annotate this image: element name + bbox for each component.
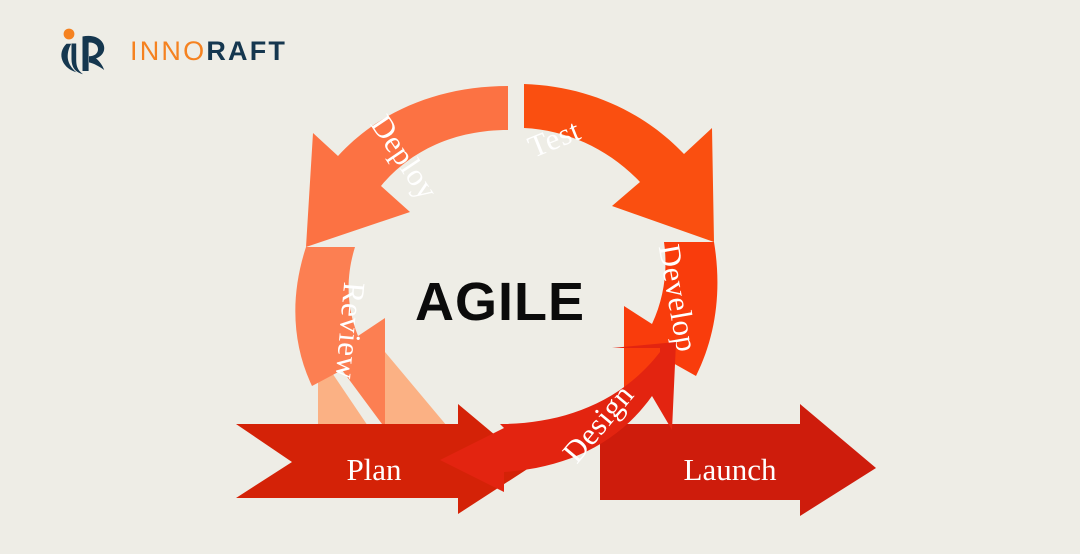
cycle-arrow-test[interactable]: Test xyxy=(523,84,714,242)
agile-cycle-diagram: Deploy Review Test Develop Launch Plan xyxy=(0,0,1080,554)
shadow-wedge-review-outer xyxy=(385,352,452,432)
linear-arrow-launch[interactable]: Launch xyxy=(600,404,876,516)
launch-arrow-label: Launch xyxy=(684,452,777,487)
test-arrow-shape xyxy=(524,84,714,242)
agile-diagram-canvas: INNORAFT Deploy Review Test Develop xyxy=(0,0,1080,554)
plan-arrow-label: Plan xyxy=(346,452,402,487)
cycle-arrow-deploy[interactable]: Deploy xyxy=(306,86,508,247)
